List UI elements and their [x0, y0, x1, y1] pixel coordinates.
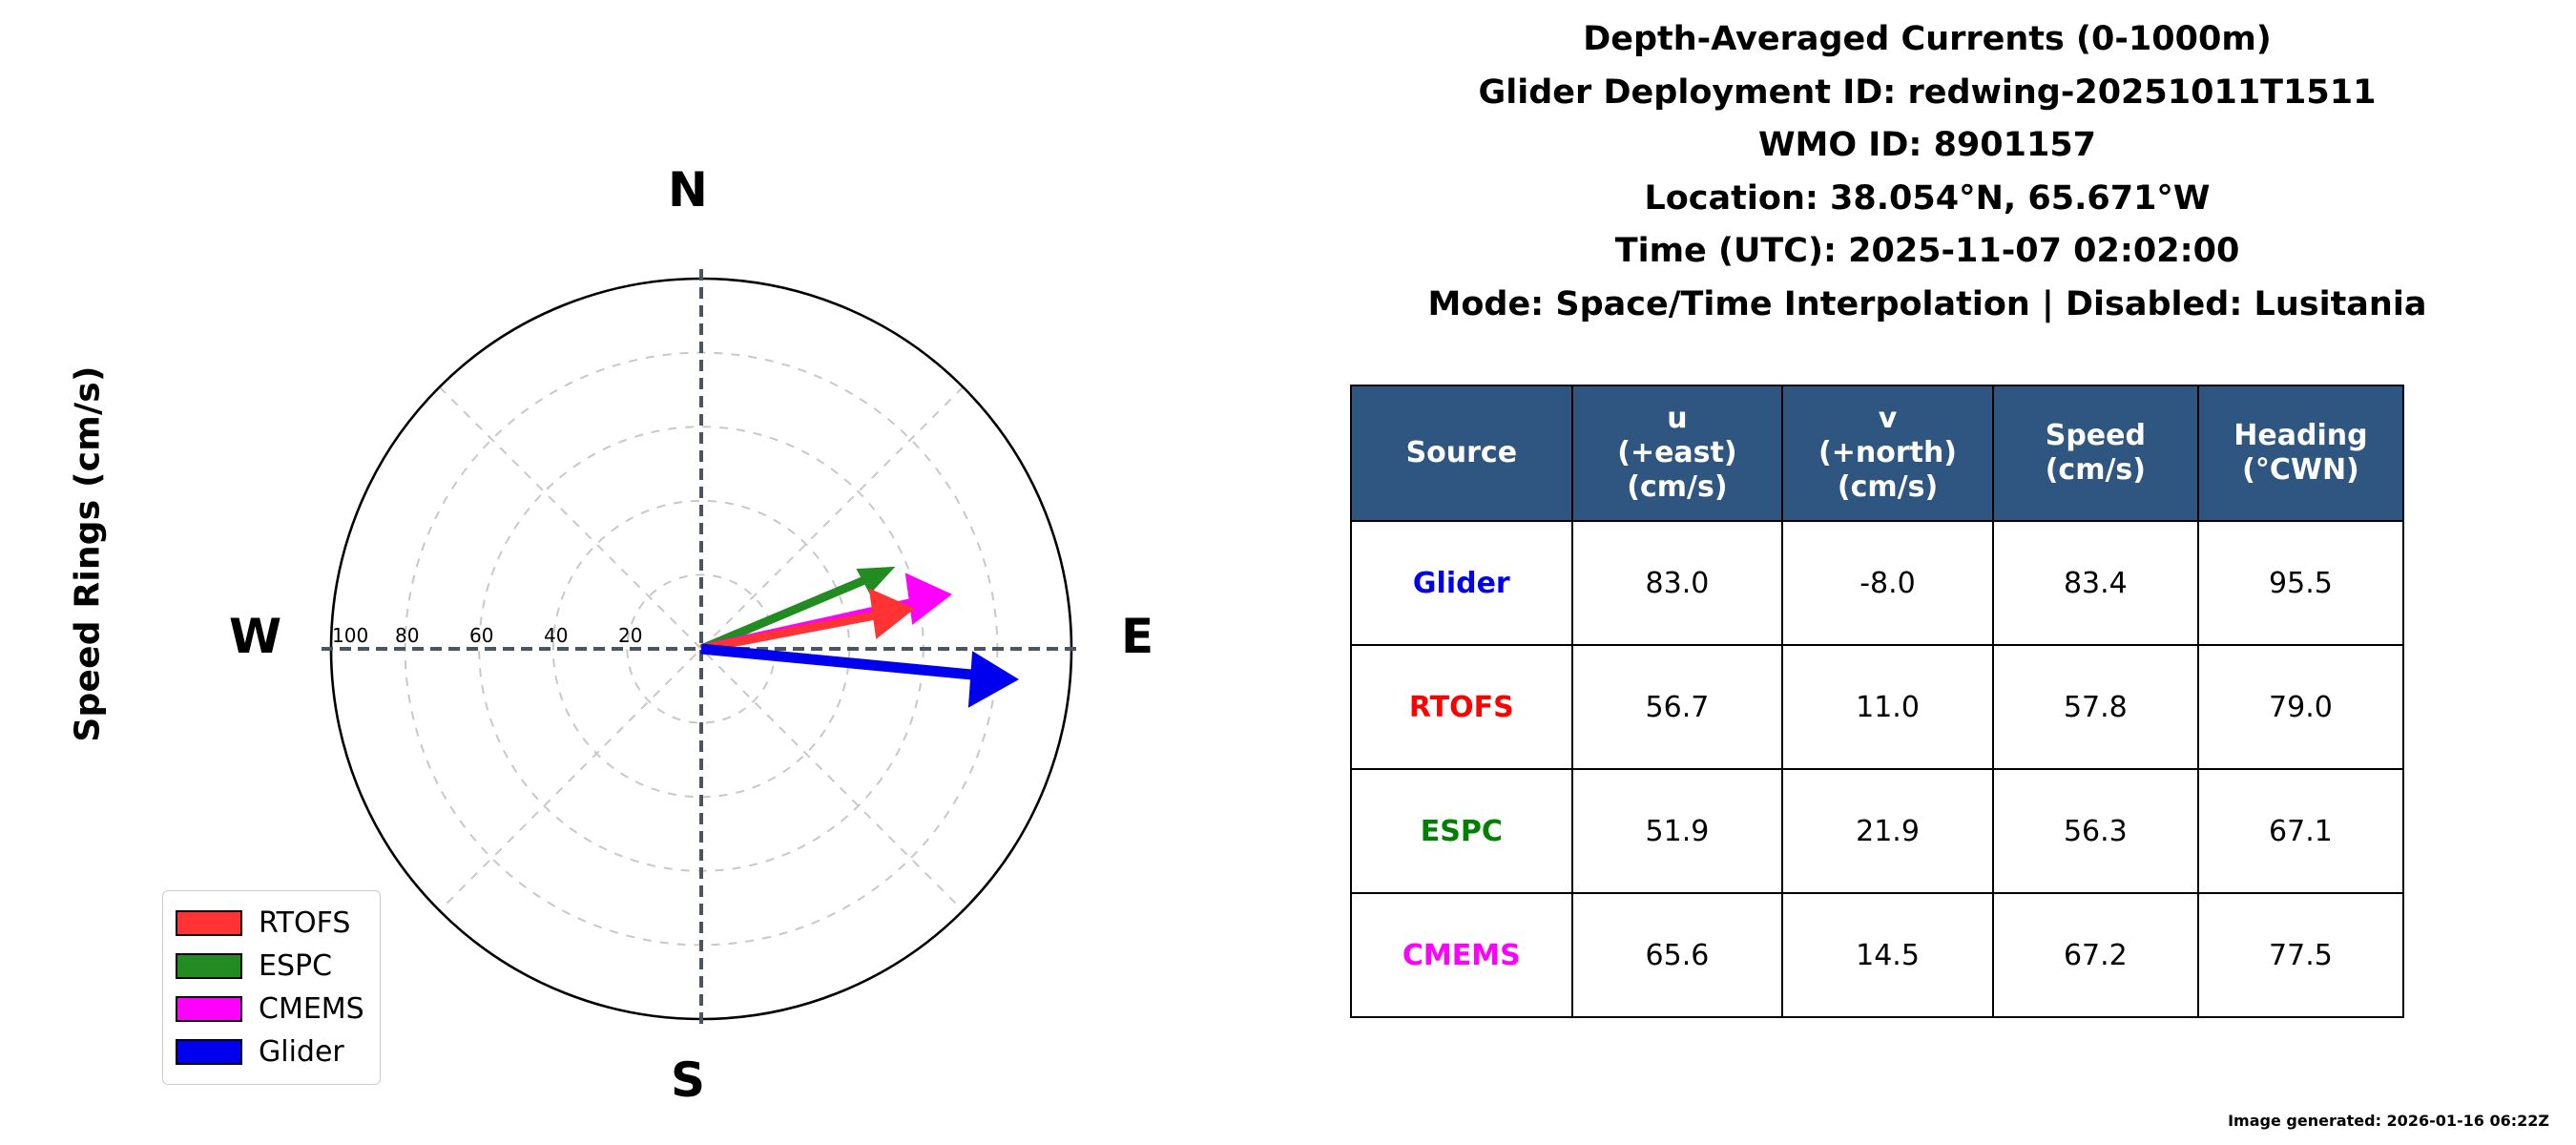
cell-u: 83.0 — [1572, 521, 1783, 645]
cell-speed: 83.4 — [1993, 521, 2198, 645]
legend-item-rtofs[interactable]: RTOFS — [176, 902, 364, 945]
column-header-2: v (+north) (cm/s) — [1782, 385, 1993, 521]
cell-u: 51.9 — [1572, 769, 1783, 893]
cell-v: -8.0 — [1782, 521, 1993, 645]
table-row: Glider83.0-8.083.495.5 — [1351, 521, 2403, 645]
table-row: CMEMS65.614.567.277.5 — [1351, 893, 2403, 1017]
compass-label-east: E — [1121, 609, 1153, 664]
vector-rtofs — [701, 590, 913, 649]
title-line-4: Time (UTC): 2025-11-07 02:02:00 — [1278, 225, 2576, 279]
title-line-1: Glider Deployment ID: redwing-20251011T1… — [1278, 67, 2576, 120]
radial-axis-title: Speed Rings (cm/s) — [69, 306, 108, 802]
legend-swatch-icon — [176, 1039, 242, 1065]
table-row: RTOFS56.711.057.879.0 — [1351, 645, 2403, 769]
legend-item-label: Glider — [259, 1038, 344, 1067]
cell-source: Glider — [1351, 521, 1572, 645]
title-line-3: Location: 38.054°N, 65.671°W — [1278, 173, 2576, 226]
ring-tick-40: 40 — [544, 624, 568, 647]
legend-item-espc[interactable]: ESPC — [176, 945, 364, 988]
polar-plot-panel: 100 80 60 40 20 — [0, 0, 1278, 1145]
cell-source: ESPC — [1351, 769, 1572, 893]
legend-item-label: ESPC — [259, 952, 332, 981]
column-header-1: u (+east) (cm/s) — [1572, 385, 1783, 521]
currents-table: Sourceu (+east) (cm/s)v (+north) (cm/s)S… — [1350, 385, 2404, 1018]
cell-heading: 79.0 — [2198, 645, 2403, 769]
ring-tick-100: 100 — [332, 624, 368, 647]
compass-label-west: W — [229, 609, 281, 664]
vector-espc — [701, 568, 893, 649]
cell-u: 65.6 — [1572, 893, 1783, 1017]
cell-source: CMEMS — [1351, 893, 1572, 1017]
cell-u: 56.7 — [1572, 645, 1783, 769]
title-line-2: WMO ID: 8901157 — [1278, 119, 2576, 173]
generated-timestamp: Image generated: 2026-01-16 06:22Z — [2228, 1112, 2549, 1130]
legend-swatch-icon — [176, 910, 242, 936]
ring-tick-20: 20 — [618, 624, 642, 647]
cell-v: 14.5 — [1782, 893, 1993, 1017]
cell-source: RTOFS — [1351, 645, 1572, 769]
legend-item-glider[interactable]: Glider — [176, 1030, 364, 1073]
legend-item-cmems[interactable]: CMEMS — [176, 988, 364, 1030]
ring-tick-labels: 100 80 60 40 20 — [332, 624, 642, 647]
cell-speed: 57.8 — [1993, 645, 2198, 769]
cell-speed: 56.3 — [1993, 769, 2198, 893]
cell-v: 21.9 — [1782, 769, 1993, 893]
column-header-3: Speed (cm/s) — [1993, 385, 2198, 521]
title-line-5: Mode: Space/Time Interpolation | Disable… — [1278, 279, 2576, 332]
legend-item-label: RTOFS — [259, 909, 350, 938]
legend-swatch-icon — [176, 953, 242, 979]
column-header-4: Heading (°CWN) — [2198, 385, 2403, 521]
table-body: Glider83.0-8.083.495.5RTOFS56.711.057.87… — [1351, 521, 2403, 1017]
title-block: Depth-Averaged Currents (0-1000m)Glider … — [1278, 13, 2576, 331]
cell-heading: 95.5 — [2198, 521, 2403, 645]
cell-v: 11.0 — [1782, 645, 1993, 769]
title-line-0: Depth-Averaged Currents (0-1000m) — [1278, 13, 2576, 67]
ring-tick-60: 60 — [469, 624, 493, 647]
figure-root: 100 80 60 40 20 — [0, 0, 2576, 1145]
plot-legend: RTOFSESPCCMEMSGlider — [162, 890, 381, 1085]
cell-heading: 77.5 — [2198, 893, 2403, 1017]
table-row: ESPC51.921.956.367.1 — [1351, 769, 2403, 893]
legend-swatch-icon — [176, 996, 242, 1022]
column-header-0: Source — [1351, 385, 1572, 521]
table-header-row: Sourceu (+east) (cm/s)v (+north) (cm/s)S… — [1351, 385, 2403, 521]
cell-heading: 67.1 — [2198, 769, 2403, 893]
compass-label-south: S — [671, 1052, 705, 1108]
info-panel: Depth-Averaged Currents (0-1000m)Glider … — [1278, 0, 2576, 1145]
cell-speed: 67.2 — [1993, 893, 2198, 1017]
vector-glider — [701, 649, 1017, 706]
compass-label-north: N — [668, 162, 708, 218]
ring-tick-80: 80 — [395, 624, 419, 647]
legend-item-label: CMEMS — [259, 995, 364, 1024]
